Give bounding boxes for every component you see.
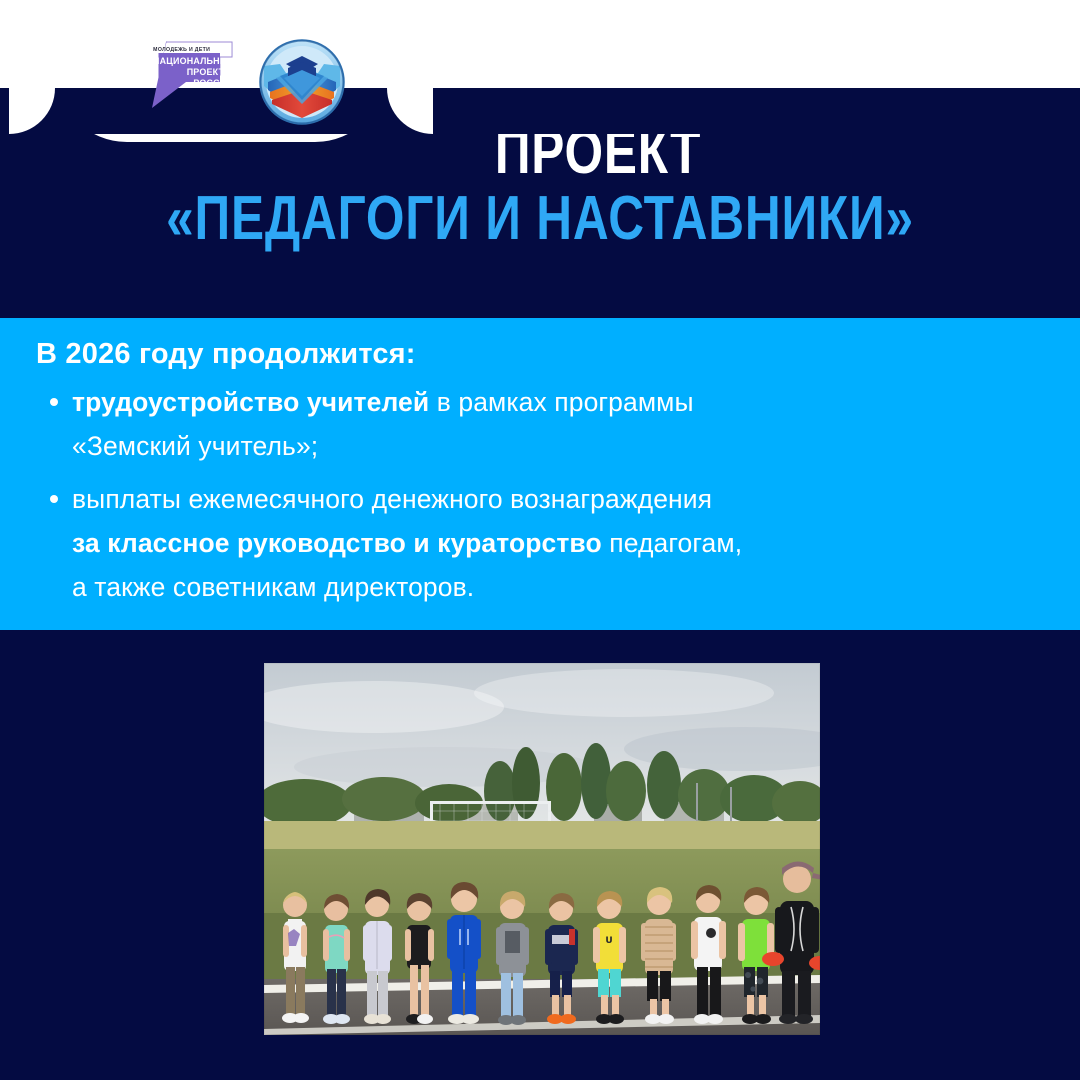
title-line-2: «ПЕДАГОГИ И НАСТАВНИКИ»	[108, 190, 972, 248]
benefits-list: трудоустройство учителей в рамках програ…	[36, 380, 1041, 609]
bullet-2-plain-3: а также советникам директоров.	[72, 572, 474, 602]
panel-lead-text: В 2026 году продолжится:	[36, 338, 416, 371]
education-ministry-emblem	[258, 38, 346, 126]
bullet-2-plain-2: педагогам,	[602, 528, 742, 558]
bullet-1-plain-2: «Земский учитель»;	[72, 431, 318, 461]
svg-text:U: U	[605, 936, 612, 946]
bullet-1-bold-1: трудоустройство учителей	[72, 387, 429, 417]
bullet-2-plain-1: выплаты ежемесячного денежного вознаграж…	[72, 484, 712, 514]
poster-canvas: МОЛОДЕЖЬ И ДЕТИ НАЦИОНАЛЬНЫЕ ПРОЕКТЫ РОС…	[0, 0, 1080, 1080]
national-projects-line3-wrap: РОССИИ	[147, 79, 233, 90]
national-projects-line1: НАЦИОНАЛЬНЫЕ	[153, 57, 233, 68]
list-item: выплаты ежемесячного денежного вознаграж…	[36, 477, 1041, 609]
bullet-dot-icon	[50, 398, 58, 406]
national-projects-kicker: МОЛОДЕЖЬ И ДЕТИ	[153, 47, 210, 53]
photo-illustration: U	[264, 663, 820, 1035]
list-item: трудоустройство учителей в рамках програ…	[36, 380, 1041, 468]
bullet-1-plain-1: в рамках программы	[429, 387, 693, 417]
bullet-2-bold-1: за классное руководство и кураторство	[72, 528, 602, 558]
national-projects-line1-wrap: НАЦИОНАЛЬНЫЕ	[147, 57, 233, 68]
content-panel: В 2026 году продолжится: трудоустройство…	[0, 318, 1080, 630]
title-block: ПРОЕКТ «ПЕДАГОГИ И НАСТАВНИКИ»	[0, 124, 1080, 249]
header-fillet-right	[387, 88, 433, 134]
header-fillet-left	[9, 88, 55, 134]
bullet-dot-icon	[50, 495, 58, 503]
national-projects-line3: РОССИИ	[153, 79, 233, 90]
photo-group-of-children-and-coach: U	[264, 663, 820, 1035]
